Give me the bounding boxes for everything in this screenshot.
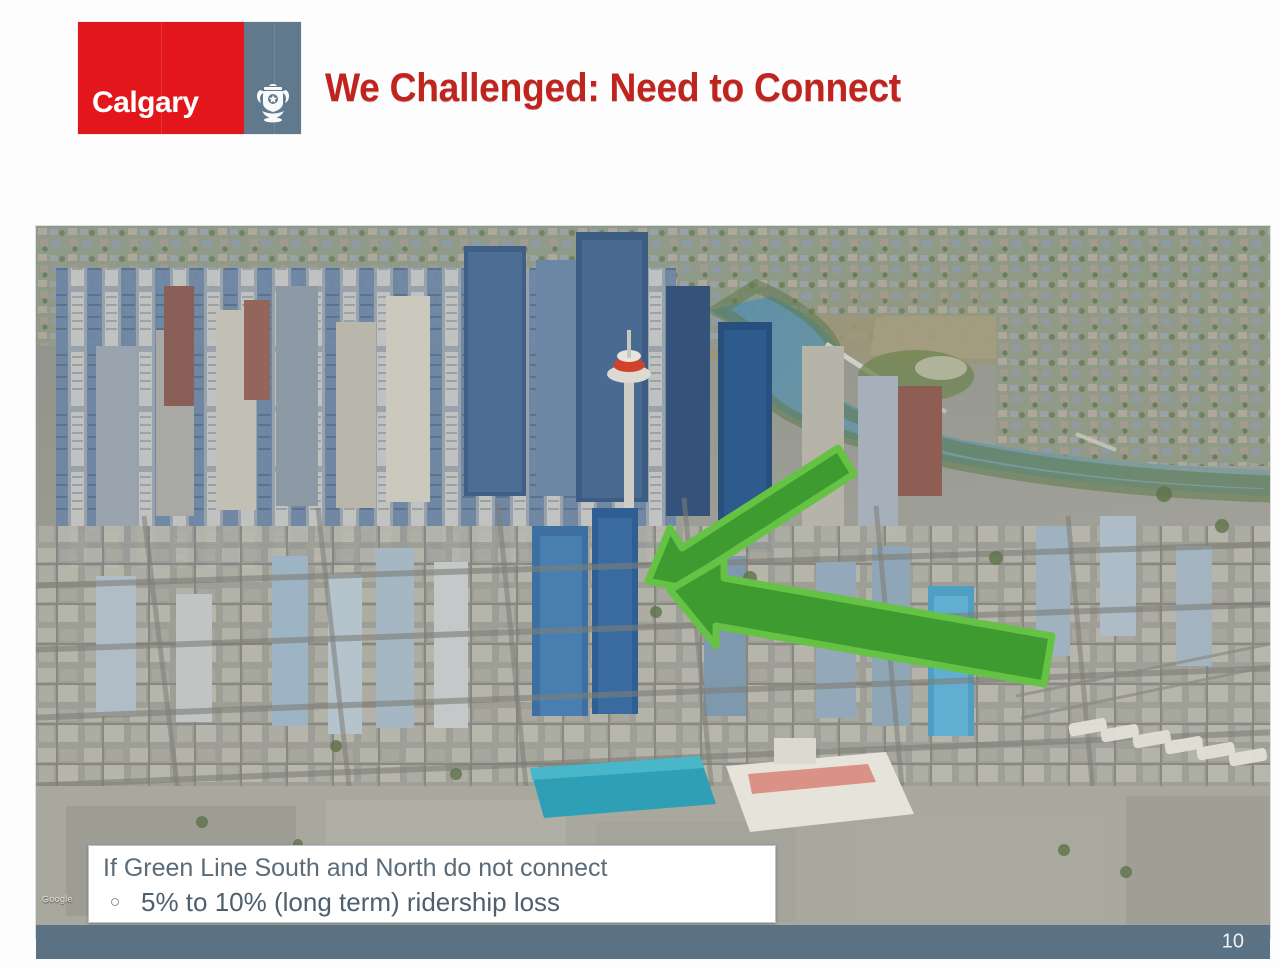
page-title: We Challenged: Need to Connect bbox=[325, 66, 901, 111]
coat-of-arms-icon bbox=[252, 78, 294, 124]
caption-line-1: If Green Line South and North do not con… bbox=[103, 852, 765, 885]
logo-red-block: Calgary bbox=[78, 22, 244, 134]
caption-bullet-1: 5% to 10% (long term) ridership loss bbox=[129, 885, 560, 919]
logo-wordmark: Calgary bbox=[78, 88, 199, 134]
caption-box: If Green Line South and North do not con… bbox=[88, 845, 776, 923]
footer-bar: 10 bbox=[36, 925, 1270, 959]
page-number: 10 bbox=[1222, 931, 1244, 954]
aerial-photo-graphic bbox=[36, 226, 1270, 938]
slide: Calgary We Challenged: Need to Connect bbox=[0, 0, 1280, 969]
caption-bullet-row: 5% to 10% (long term) ridership loss bbox=[103, 885, 765, 919]
bullet-icon bbox=[111, 898, 119, 906]
logo-crest-panel bbox=[244, 22, 301, 134]
google-watermark: Google bbox=[42, 894, 73, 905]
aerial-photo: Google If Green Line South and North do … bbox=[36, 226, 1270, 938]
city-of-calgary-logo: Calgary bbox=[78, 22, 301, 134]
